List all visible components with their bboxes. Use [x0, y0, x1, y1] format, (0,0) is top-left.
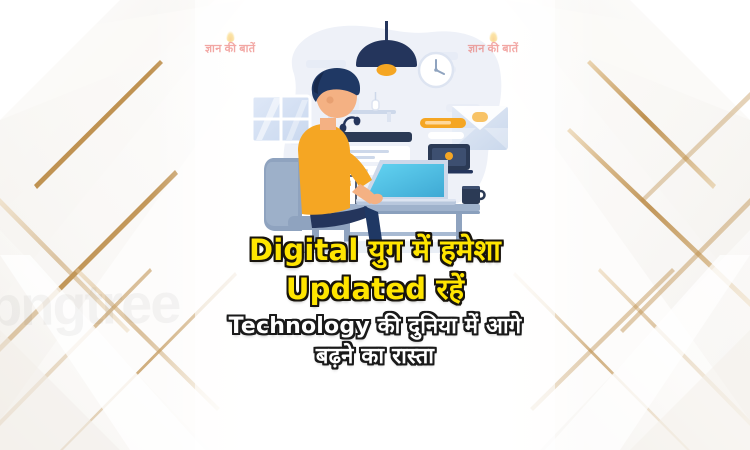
wall-clock — [419, 53, 453, 87]
headline-line-4: बढ़ने का रास्ता — [0, 346, 750, 368]
headline-line-1: Digital युग में हमेशा — [0, 236, 750, 265]
diya-flame-icon — [489, 31, 498, 42]
brand-watermark-text: ज्ञान की बातें — [205, 43, 255, 55]
headline-line-2: Updated रहें — [0, 275, 750, 304]
brand-watermark-left: ज्ञान की बातें — [205, 31, 255, 56]
poster-canvas: pngtree ज्ञान की बातें ज्ञान की बातें Di… — [0, 0, 750, 450]
brand-watermark-right: ज्ञान की बातें — [468, 31, 518, 56]
lamp-glow — [377, 64, 397, 76]
coffee-mug — [462, 186, 485, 204]
headline-block: Digital युग में हमेशा Updated रहें Techn… — [0, 236, 750, 368]
brand-watermark-text: ज्ञान की बातें — [468, 43, 518, 55]
window — [252, 96, 310, 142]
headline-line-3: Technology की दुनिया में आगे — [0, 316, 750, 338]
diya-flame-icon — [226, 31, 235, 42]
